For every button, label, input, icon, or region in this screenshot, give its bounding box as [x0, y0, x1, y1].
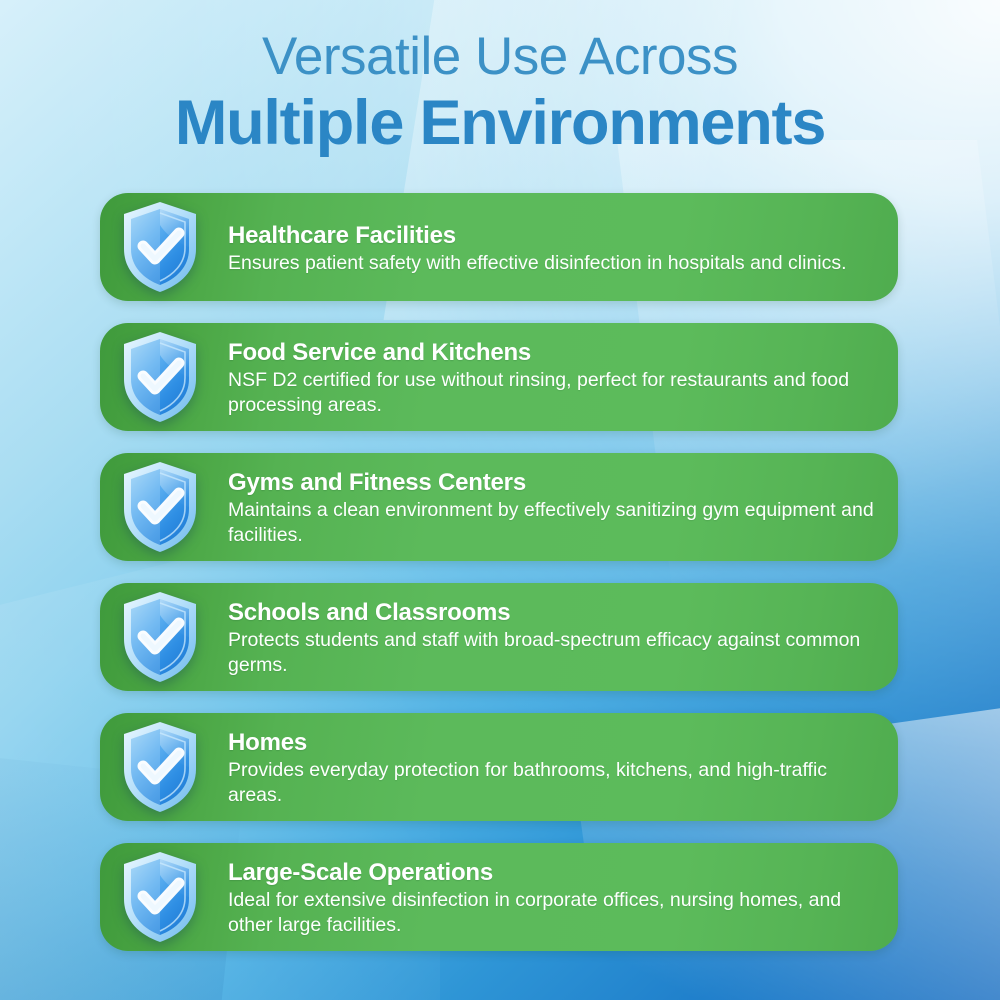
list-item[interactable]: Gyms and Fitness Centers Maintains a cle… — [100, 453, 898, 561]
shield-check-icon — [118, 719, 202, 815]
list-item[interactable]: Schools and Classrooms Protects students… — [100, 583, 898, 691]
shield-check-icon — [118, 459, 202, 555]
list-item-text: Homes Provides everyday protection for b… — [228, 726, 874, 808]
shield-check-icon — [118, 199, 202, 295]
list-item-title: Healthcare Facilities — [228, 221, 847, 251]
list-item-title: Large-Scale Operations — [228, 858, 874, 888]
list-item-description: Provides everyday protection for bathroo… — [228, 758, 874, 808]
list-item-title: Homes — [228, 728, 874, 758]
list-item-description: Ensures patient safety with effective di… — [228, 251, 847, 276]
list-item-description: Ideal for extensive disinfection in corp… — [228, 888, 874, 938]
list-item-text: Healthcare Facilities Ensures patient sa… — [228, 219, 847, 276]
list-item-description: Protects students and staff with broad-s… — [228, 628, 874, 678]
list-item[interactable]: Food Service and Kitchens NSF D2 certifi… — [100, 323, 898, 431]
shield-check-icon — [118, 849, 202, 945]
list-item[interactable]: Homes Provides everyday protection for b… — [100, 713, 898, 821]
shield-check-icon — [118, 589, 202, 685]
list-item-text: Food Service and Kitchens NSF D2 certifi… — [228, 336, 874, 418]
page-title-line-2: Multiple Environments — [0, 88, 1000, 158]
shield-check-icon — [118, 329, 202, 425]
list-item[interactable]: Large-Scale Operations Ideal for extensi… — [100, 843, 898, 951]
list-item[interactable]: Healthcare Facilities Ensures patient sa… — [100, 193, 898, 301]
infographic-canvas: Versatile Use Across Multiple Environmen… — [0, 0, 1000, 1000]
list-item-title: Schools and Classrooms — [228, 598, 874, 628]
list-item-text: Schools and Classrooms Protects students… — [228, 596, 874, 678]
list-item-description: Maintains a clean environment by effecti… — [228, 498, 874, 548]
list-item-text: Gyms and Fitness Centers Maintains a cle… — [228, 466, 874, 548]
list-item-description: NSF D2 certified for use without rinsing… — [228, 368, 874, 418]
page-title: Versatile Use Across Multiple Environmen… — [0, 26, 1000, 158]
list-item-title: Gyms and Fitness Centers — [228, 468, 874, 498]
page-title-line-1: Versatile Use Across — [0, 26, 1000, 88]
list-item-title: Food Service and Kitchens — [228, 338, 874, 368]
list-item-text: Large-Scale Operations Ideal for extensi… — [228, 856, 874, 938]
environment-card-list: Healthcare Facilities Ensures patient sa… — [100, 193, 898, 951]
